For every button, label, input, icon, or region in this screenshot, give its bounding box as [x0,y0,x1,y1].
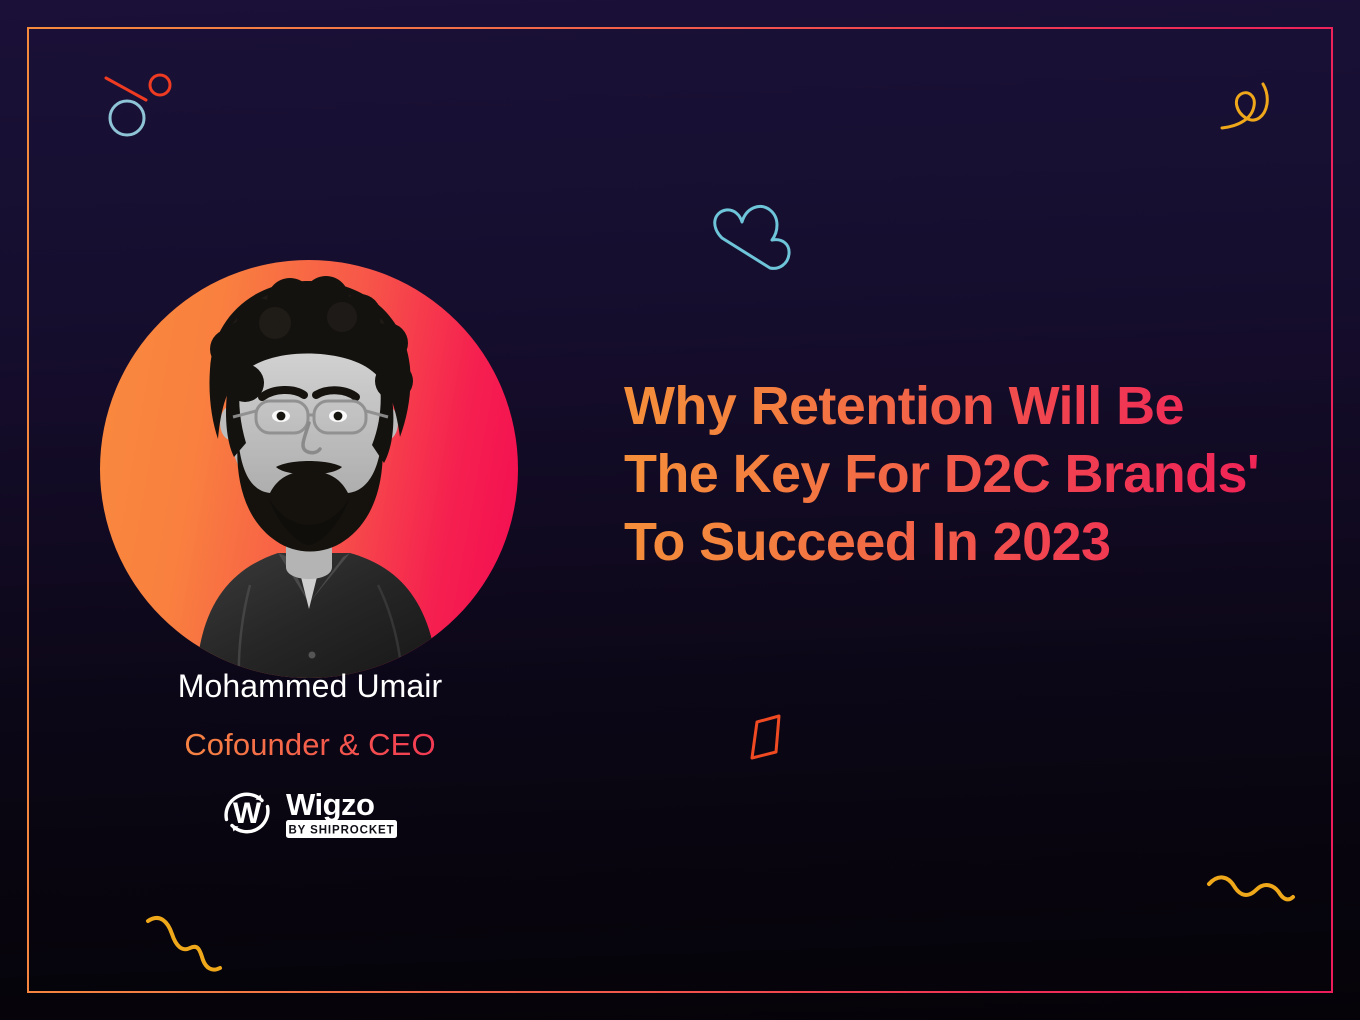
rhombus-outline-decoration [752,716,779,758]
avatar [100,185,520,645]
wigzo-logo: W Wigzo BY SHIPROCKET [215,782,405,844]
wave-decoration-right [1209,877,1293,899]
diagonal-line-decoration [106,78,146,100]
logo-wordmark: Wigzo [286,787,374,822]
logo-badge-text: BY SHIPROCKET [288,825,394,837]
presentation-card: Why Retention Will Be The Key For D2C Br… [0,0,1360,1020]
speaker-role: Cofounder & CEO [60,727,560,763]
logo-monogram: W [233,797,262,830]
wave-decoration-left [148,918,220,970]
small-circle-decoration [150,75,170,95]
page-title: Why Retention Will Be The Key For D2C Br… [624,372,1314,576]
speaker-portrait-photo [100,185,518,678]
cloud-outline-decoration [715,206,789,268]
large-circle-decoration [110,101,144,135]
speaker-name: Mohammed Umair [60,668,560,705]
loop-swirl-decoration [1222,84,1267,128]
